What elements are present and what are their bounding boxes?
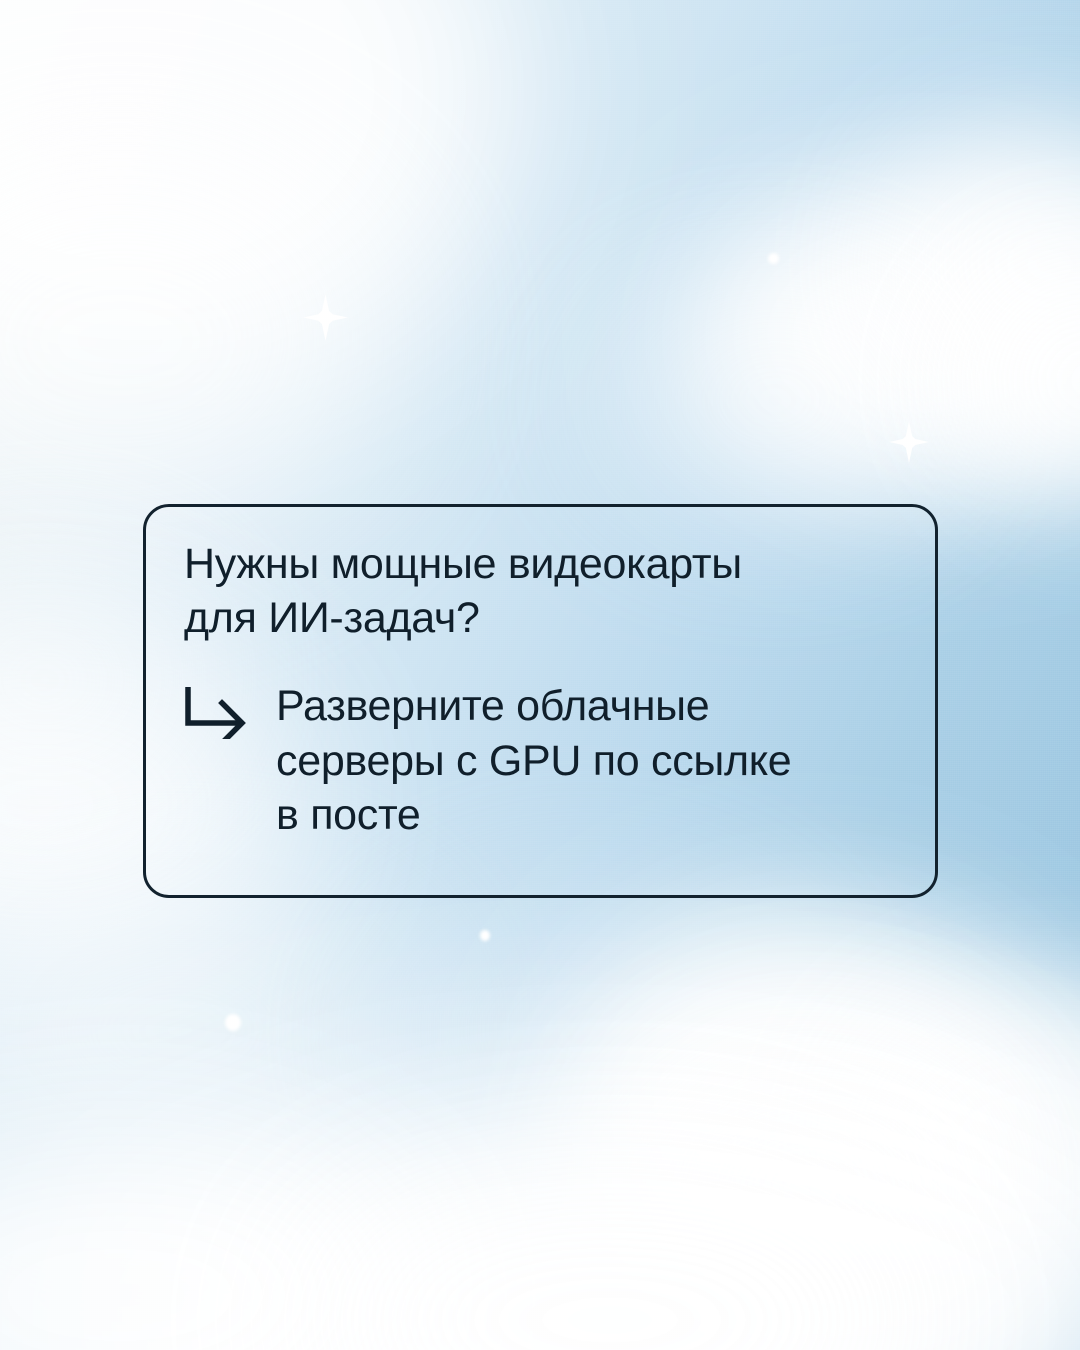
- dot-lower-middle-icon: [480, 930, 490, 941]
- cloud-upper-right-tail: [610, 300, 940, 500]
- card-headline: Нужны мощные видеокарты для ИИ-задач?: [184, 537, 907, 645]
- card-content: Нужны мощные видеокарты для ИИ-задач? Ра…: [184, 537, 907, 842]
- card-answer-row: Разверните облачные серверы с GPU по ссы…: [184, 679, 907, 842]
- dot-upper-right-icon: [768, 253, 779, 264]
- poster-canvas: Нужны мощные видеокарты для ИИ-задач? Ра…: [0, 0, 1080, 1350]
- dot-lower-left-icon: [225, 1014, 241, 1031]
- card-answer-text: Разверните облачные серверы с GPU по ссы…: [276, 679, 791, 842]
- message-card: Нужны мощные видеокарты для ИИ-задач? Ра…: [143, 504, 938, 898]
- arrow-turn-down-right-icon: [184, 687, 254, 739]
